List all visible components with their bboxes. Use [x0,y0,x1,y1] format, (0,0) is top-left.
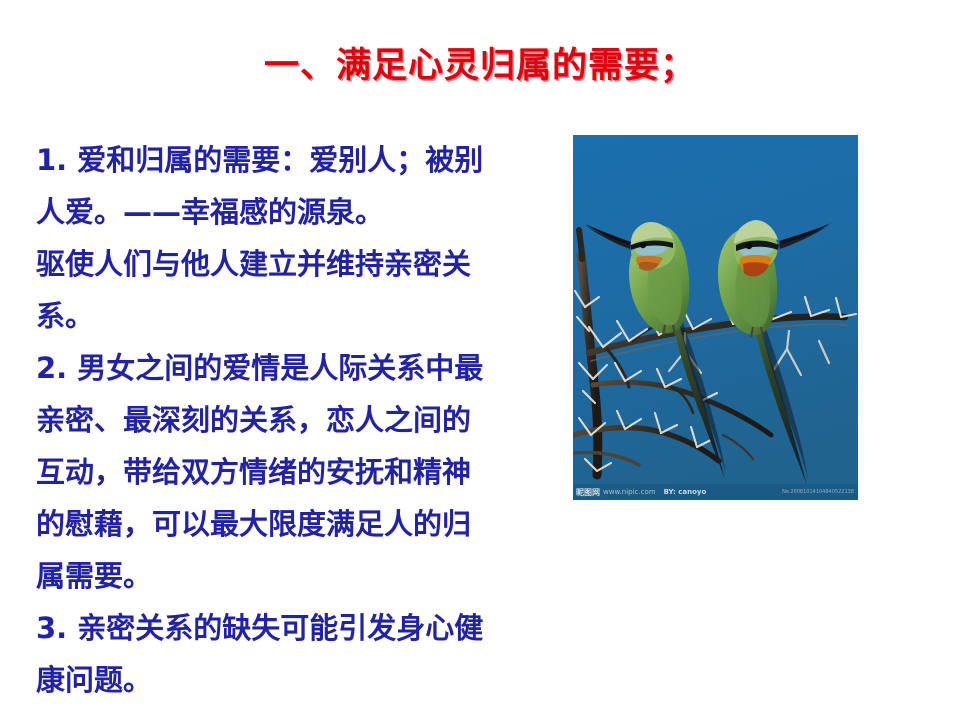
text-line: 1. 爱和归属的需要：爱别人；被别 [36,134,544,186]
text-line: 系。 [36,290,544,342]
text-line: 驱使人们与他人建立并维持亲密关 [36,238,544,290]
text-line: 康问题。 [36,654,544,706]
text-line: 属需要。 [36,550,544,602]
text-line: 互动，带给双方情绪的安抚和精神 [36,446,544,498]
bee-eater-photo-illustration [573,135,858,500]
text-line: 的慰藉，可以最大限度满足人的归 [36,498,544,550]
text-line: 人爱。——幸福感的源泉。 [36,186,544,238]
text-line: 3. 亲密关系的缺失可能引发身心健 [36,602,544,654]
bee-eater-photo: 昵图网 www.nipic.com BY: canoyo No.20081014… [573,135,858,500]
slide-canvas: 一、满足心灵归属的需要； 1. 爱和归属的需要：爱别人；被别 人爱。——幸福感的… [0,0,960,720]
page-title: 一、满足心灵归属的需要； [0,44,960,88]
text-line: 亲密、最深刻的关系，恋人之间的 [36,394,544,446]
body-text-block: 1. 爱和归属的需要：爱别人；被别 人爱。——幸福感的源泉。 驱使人们与他人建立… [36,134,544,706]
text-line: 2. 男女之间的爱情是人际关系中最 [36,342,544,394]
